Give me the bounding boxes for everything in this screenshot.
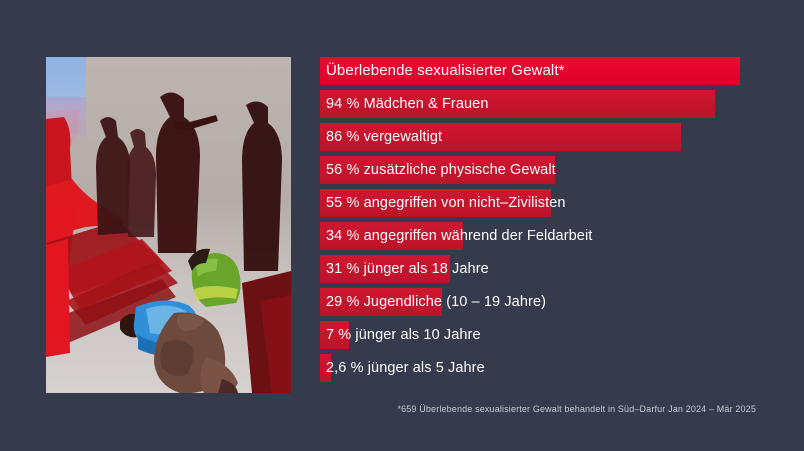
bar-row-feldarbeit: 34 % angegriffen während der Feldarbeit — [320, 222, 760, 250]
bar-row-juenger-5: 2,6 % jünger als 5 Jahre — [320, 354, 760, 382]
bar-label-juenger-18: 31 % jünger als 18 Jahre — [326, 255, 489, 283]
bar-row-nicht-zivilisten: 55 % angegriffen von nicht–Zivilisten — [320, 189, 760, 217]
bar-chart: Überlebende sexualisierter Gewalt*94 % M… — [320, 57, 760, 387]
chart-footnote: *659 Überlebende sexualisierter Gewalt b… — [320, 404, 756, 414]
bar-label-headline: Überlebende sexualisierter Gewalt* — [326, 57, 565, 85]
bar-row-zusaetzliche-physische-gewalt: 56 % zusätzliche physische Gewalt — [320, 156, 760, 184]
bar-label-feldarbeit: 34 % angegriffen während der Feldarbeit — [326, 222, 592, 250]
infographic-canvas: Überlebende sexualisierter Gewalt*94 % M… — [0, 0, 804, 451]
bar-label-juenger-10: 7 % jünger als 10 Jahre — [326, 321, 481, 349]
bar-row-jugendliche: 29 % Jugendliche (10 – 19 Jahre) — [320, 288, 760, 316]
illustration-image — [46, 57, 291, 393]
bar-label-juenger-5: 2,6 % jünger als 5 Jahre — [326, 354, 485, 382]
illustration-artwork — [46, 57, 291, 393]
bar-label-nicht-zivilisten: 55 % angegriffen von nicht–Zivilisten — [326, 189, 566, 217]
bar-row-vergewaltigt: 86 % vergewaltigt — [320, 123, 760, 151]
bar-label-maedchen-frauen: 94 % Mädchen & Frauen — [326, 90, 489, 118]
bar-row-maedchen-frauen: 94 % Mädchen & Frauen — [320, 90, 760, 118]
bar-row-headline: Überlebende sexualisierter Gewalt* — [320, 57, 760, 85]
bar-row-juenger-10: 7 % jünger als 10 Jahre — [320, 321, 760, 349]
bar-label-zusaetzliche-physische-gewalt: 56 % zusätzliche physische Gewalt — [326, 156, 556, 184]
bar-label-vergewaltigt: 86 % vergewaltigt — [326, 123, 442, 151]
bar-label-jugendliche: 29 % Jugendliche (10 – 19 Jahre) — [326, 288, 546, 316]
bar-row-juenger-18: 31 % jünger als 18 Jahre — [320, 255, 760, 283]
